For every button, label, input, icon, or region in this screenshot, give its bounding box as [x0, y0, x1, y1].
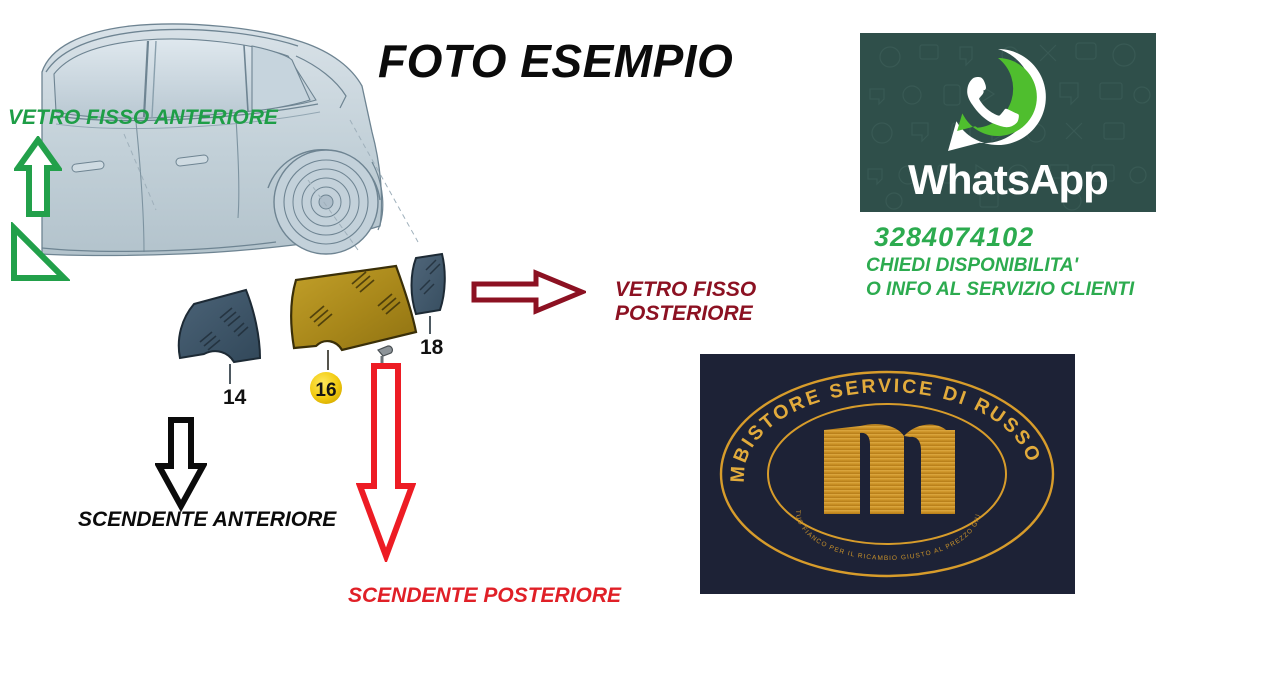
- whatsapp-banner: WhatsApp: [860, 33, 1156, 212]
- whatsapp-wordmark: WhatsApp: [860, 156, 1156, 204]
- label-vetro-fisso-posteriore: VETRO FISSO POSTERIORE: [615, 278, 756, 325]
- label-vfp-line1: VETRO FISSO: [615, 278, 756, 302]
- label-vetro-fisso-anteriore: VETRO FISSO ANTERIORE: [8, 106, 278, 130]
- triangle-green-icon: [8, 222, 70, 289]
- svg-text:14: 14: [223, 386, 247, 409]
- phone-number[interactable]: 3284074102: [874, 222, 1134, 253]
- svg-text:16: 16: [315, 380, 336, 401]
- poster-canvas: 14 16 17: [0, 0, 1264, 678]
- right-arrow-darkred-icon: [470, 268, 586, 321]
- svg-text:18: 18: [420, 336, 444, 359]
- whatsapp-logo-icon: [934, 41, 1062, 161]
- down-arrow-black-icon: [155, 416, 207, 517]
- parts-svg: 14 16 17: [120, 240, 500, 440]
- contact-info: 3284074102 CHIEDI DISPONIBILITA' O INFO …: [866, 222, 1134, 301]
- part-14-glass: 14: [179, 290, 260, 409]
- up-arrow-green-icon: [14, 136, 62, 223]
- label-scendente-anteriore: SCENDENTE ANTERIORE: [78, 508, 336, 532]
- label-vfp-line2: POSTERIORE: [615, 302, 756, 326]
- part-16-badge: 16: [310, 372, 342, 404]
- part-16-glass: [291, 266, 416, 370]
- company-monogram: [824, 424, 955, 514]
- contact-line-1: CHIEDI DISPONIBILITA': [866, 255, 1134, 277]
- company-logo: MRICAMBISTORE SERVICE DI RUSSO MARCO AL …: [700, 354, 1075, 594]
- exploded-parts-diagram: 14 16 17: [120, 240, 500, 440]
- label-scendente-posteriore: SCENDENTE POSTERIORE: [348, 584, 621, 608]
- contact-line-2: O INFO AL SERVIZIO CLIENTI: [866, 279, 1134, 301]
- company-logo-svg: MRICAMBISTORE SERVICE DI RUSSO MARCO AL …: [700, 354, 1075, 594]
- part-18-glass: 18: [412, 254, 445, 359]
- down-arrow-red-icon: [356, 362, 416, 567]
- page-title: FOTO ESEMPIO: [378, 36, 733, 88]
